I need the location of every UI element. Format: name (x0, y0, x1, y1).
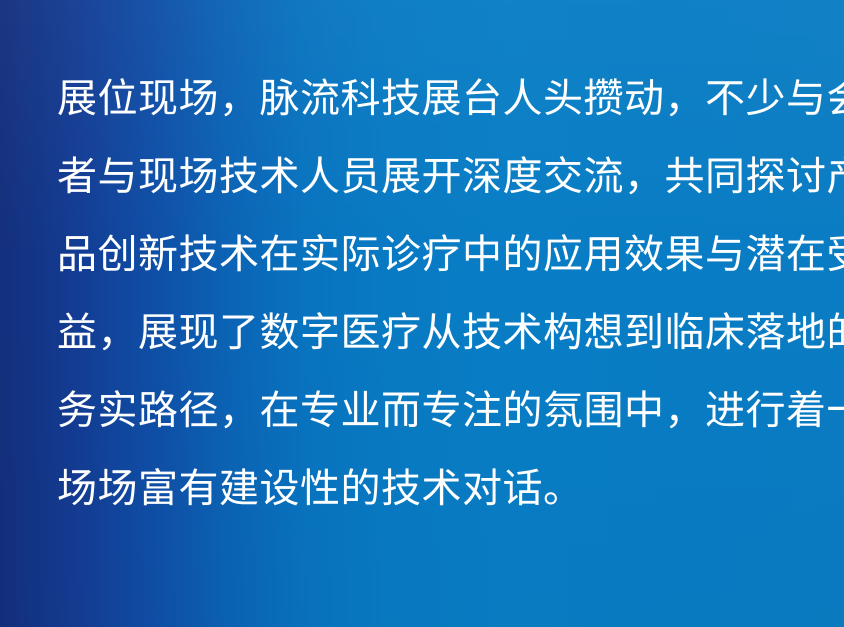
text-card: 展位现场，脉流科技展台人头攒动，不少与会 者与现场技术人员展开深度交流，共同探讨… (0, 0, 844, 627)
paragraph-line-4: 益，展现了数字医疗从技术构想到临床落地的 (57, 294, 797, 372)
paragraph-line-6: 场场富有建设性的技术对话。 (57, 450, 797, 528)
paragraph-line-3: 品创新技术在实际诊疗中的应用效果与潜在受 (57, 216, 797, 294)
paragraph-line-5: 务实路径，在专业而专注的氛围中，进行着一 (57, 372, 797, 450)
paragraph-line-2: 者与现场技术人员展开深度交流，共同探讨产 (57, 138, 797, 216)
paragraph-line-1: 展位现场，脉流科技展台人头攒动，不少与会 (57, 60, 797, 138)
body-paragraph: 展位现场，脉流科技展台人头攒动，不少与会 者与现场技术人员展开深度交流，共同探讨… (57, 60, 797, 528)
